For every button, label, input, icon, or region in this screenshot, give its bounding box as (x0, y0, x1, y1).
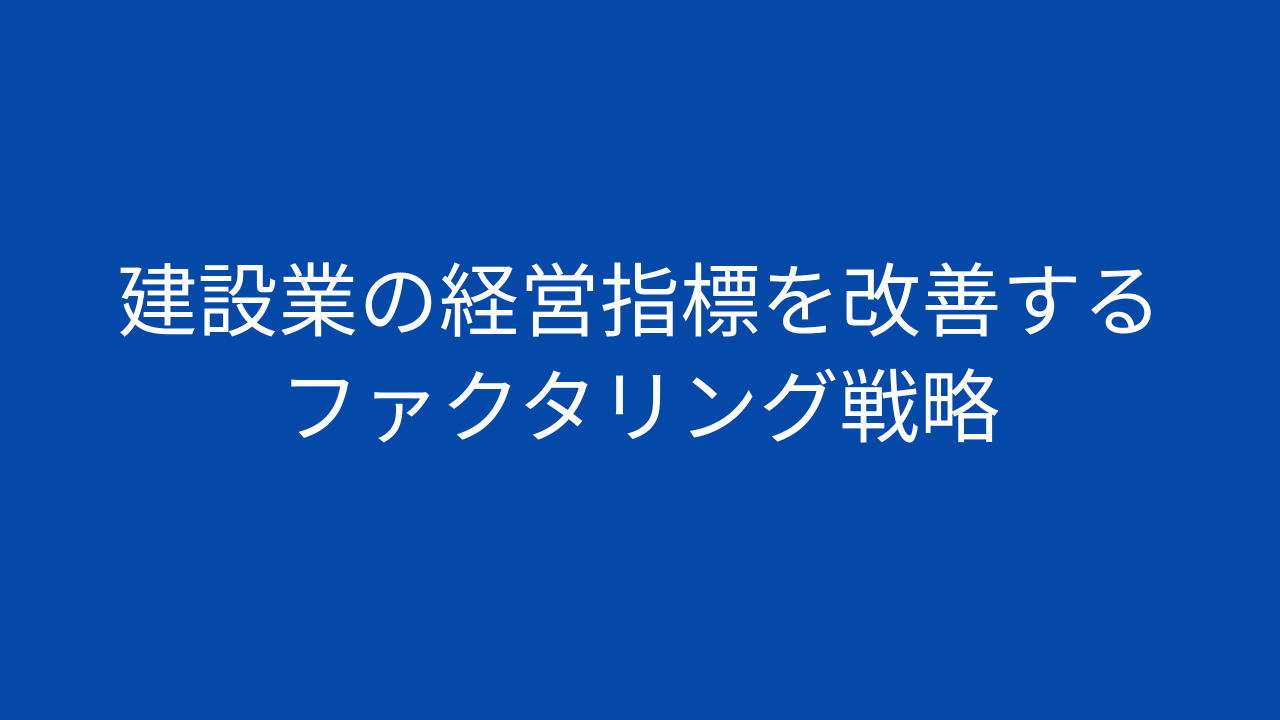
slide-title-block: 建設業の経営指標を改善する ファクタリング戦略 (0, 250, 1280, 462)
slide-title-line-2: ファクタリング戦略 (48, 356, 1232, 462)
slide-title-line-1: 建設業の経営指標を改善する (48, 250, 1232, 356)
title-slide: 建設業の経営指標を改善する ファクタリング戦略 (0, 0, 1280, 720)
